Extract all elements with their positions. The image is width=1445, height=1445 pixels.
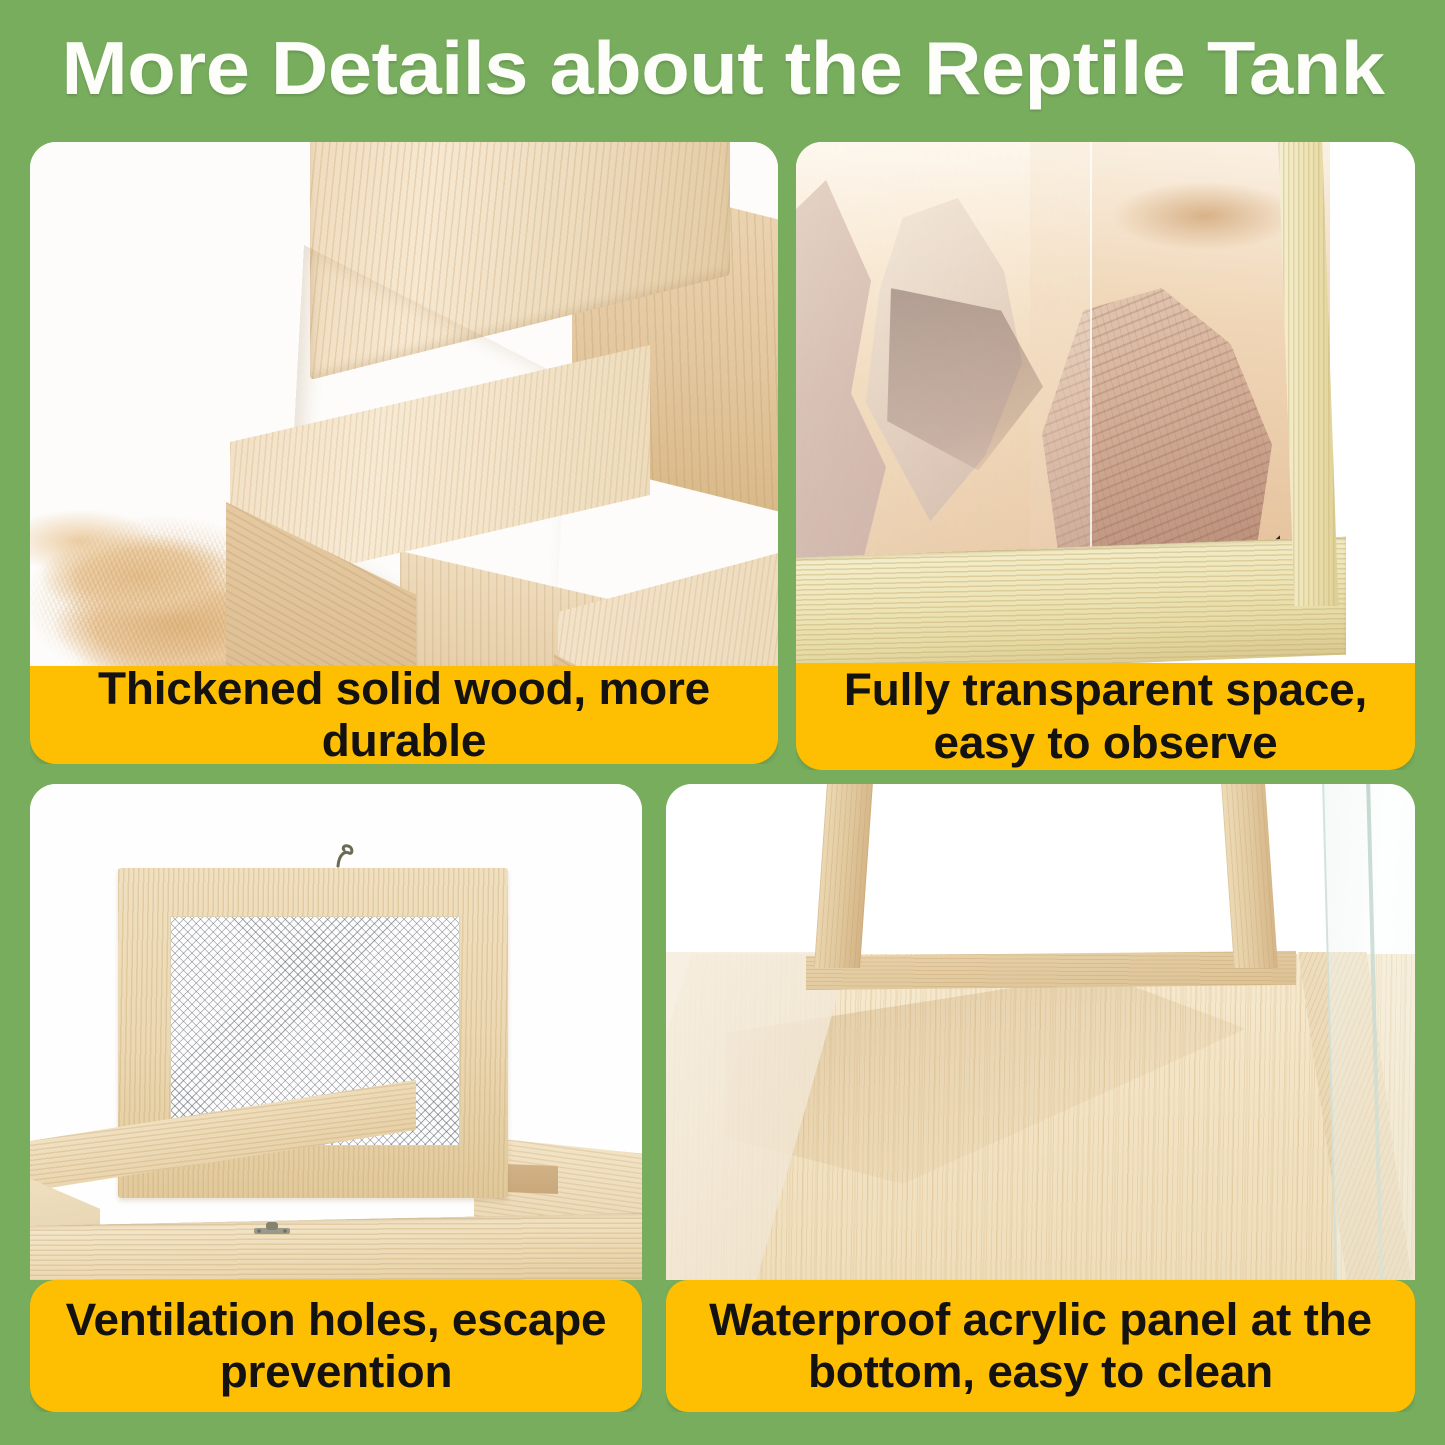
page-title: More Details about the Reptile Tank	[61, 25, 1384, 111]
caption-label: Fully transparent space, easy to observe	[796, 664, 1415, 768]
wood-beams-illustration	[30, 142, 778, 666]
right-corner-post	[1221, 784, 1278, 968]
caption-bar: Ventilation holes, escape prevention	[30, 1280, 642, 1412]
ventilated-lid-illustration	[30, 784, 642, 1280]
bottom-wood-rail	[796, 537, 1346, 663]
beam-c-top-face	[558, 542, 778, 666]
acrylic-sheet-overlay	[796, 142, 1092, 570]
caption-label: Waterproof acrylic panel at the bottom, …	[666, 1294, 1415, 1398]
stacked-wood-beams-with-sawdust-photo	[30, 142, 778, 666]
metal-latch-icon	[252, 1222, 292, 1238]
tank-interior-illustration	[666, 784, 1415, 1280]
transparent-tank-illustration	[796, 142, 1415, 663]
feature-card-fully-transparent-space[interactable]: Fully transparent space, easy to observe	[796, 142, 1415, 770]
caption-bar: Waterproof acrylic panel at the bottom, …	[666, 1280, 1415, 1412]
caption-label: Ventilation holes, escape prevention	[30, 1294, 642, 1398]
back-bottom-rail	[806, 951, 1296, 990]
box-front-rail	[30, 1213, 642, 1280]
lid-hook-icon	[332, 840, 358, 868]
tank-interior-bottom-panel-photo	[666, 784, 1415, 1280]
hinged-wooden-lid-with-wire-mesh-photo	[30, 784, 642, 1280]
caption-bar: Thickened solid wood, more durable	[30, 666, 778, 764]
feature-card-waterproof-acrylic-bottom[interactable]: Waterproof acrylic panel at the bottom, …	[666, 784, 1415, 1412]
feature-card-thickened-solid-wood[interactable]: Thickened solid wood, more durable	[30, 142, 778, 764]
page-header: More Details about the Reptile Tank	[0, 0, 1445, 136]
caption-label: Thickened solid wood, more durable	[30, 663, 778, 764]
feature-card-ventilation-holes[interactable]: Ventilation holes, escape prevention	[30, 784, 642, 1412]
transparent-acrylic-panel-desert-backdrop-photo	[796, 142, 1415, 663]
feature-card-grid: Thickened solid wood, more durable Fully	[0, 136, 1445, 1445]
left-corner-post	[814, 784, 873, 968]
caption-bar: Fully transparent space, easy to observe	[796, 663, 1415, 770]
